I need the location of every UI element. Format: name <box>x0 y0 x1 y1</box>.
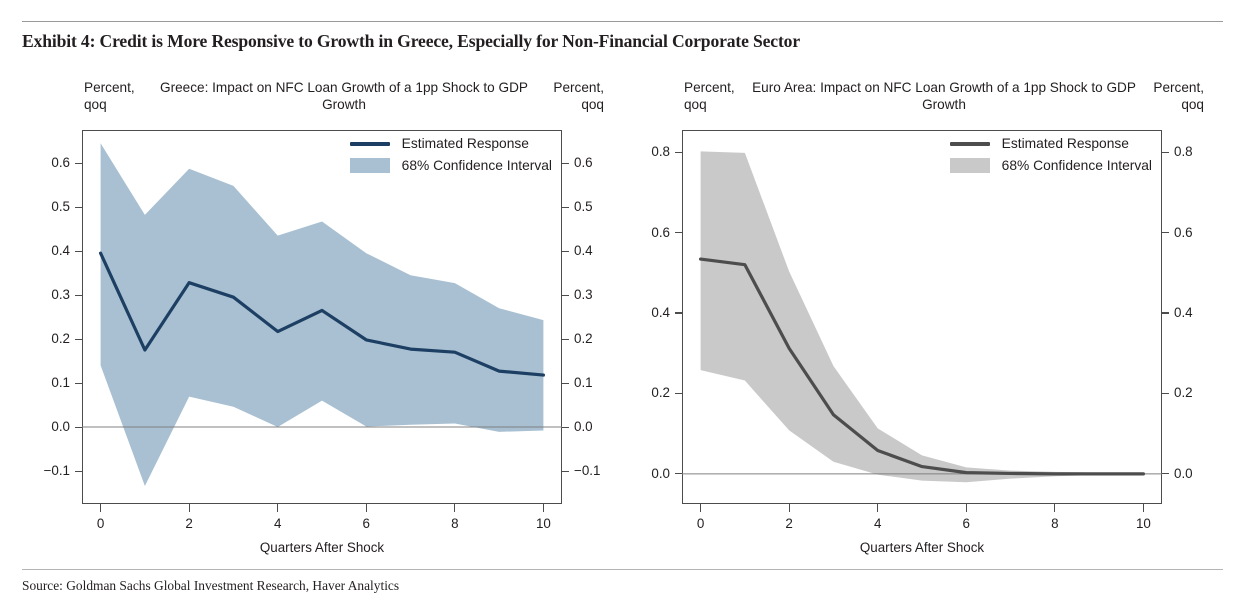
y-axis-label: 0.0 <box>1174 467 1193 480</box>
page-title: Exhibit 4: Credit is More Responsive to … <box>22 31 1202 52</box>
x-axis-label: 0 <box>97 517 104 530</box>
chart-title-euro-area: Euro Area: Impact on NFC Loan Growth of … <box>750 80 1138 113</box>
y-axis-tick <box>75 427 82 428</box>
x-axis-tick <box>100 504 101 512</box>
y-axis-tick <box>675 473 682 474</box>
y-axis-label: 0.4 <box>1174 306 1193 319</box>
unit-label-right: Percent, qoq <box>553 80 604 113</box>
x-axis-label: 4 <box>274 517 281 530</box>
x-axis-tick <box>1054 504 1055 512</box>
confidence-band <box>701 151 1144 482</box>
y-axis-label: 0.3 <box>574 288 593 301</box>
legend-label: 68% Confidence Interval <box>1002 158 1152 173</box>
x-axis-tick <box>700 504 701 512</box>
legend-label: 68% Confidence Interval <box>402 158 552 173</box>
y-axis-tick <box>1162 152 1169 153</box>
legend-greece: Estimated Response 68% Confidence Interv… <box>350 136 552 173</box>
chart-header-euro-area: Percent, qoq Euro Area: Impact on NFC Lo… <box>622 72 1222 118</box>
legend-label: Estimated Response <box>1002 136 1129 151</box>
y-axis-label: 0.6 <box>1174 226 1193 239</box>
y-axis-label: 0.2 <box>574 332 593 345</box>
x-axis-tick <box>789 504 790 512</box>
chart-panel-euro-area: Percent, qoq Euro Area: Impact on NFC Lo… <box>622 72 1222 562</box>
x-axis-tick <box>966 504 967 512</box>
y-axis-tick <box>75 163 82 164</box>
legend-item-estimated-response: Estimated Response <box>950 136 1152 151</box>
y-axis-label: 0.6 <box>574 156 593 169</box>
y-axis-label: 0.4 <box>51 244 70 257</box>
x-axis-label: 2 <box>185 517 192 530</box>
y-axis-tick <box>1162 393 1169 394</box>
legend-euro-area: Estimated Response 68% Confidence Interv… <box>950 136 1152 173</box>
y-axis-label: 0.3 <box>51 288 70 301</box>
legend-item-confidence-interval: 68% Confidence Interval <box>350 158 552 173</box>
x-axis-label: 8 <box>451 517 458 530</box>
y-axis-label: −0.1 <box>574 464 600 477</box>
x-axis-title-greece: Quarters After Shock <box>82 540 562 555</box>
y-axis-label: 0.8 <box>1174 145 1193 158</box>
y-axis-label: 0.5 <box>574 200 593 213</box>
unit-label-left: Percent, qoq <box>84 80 135 113</box>
y-axis-tick <box>562 207 569 208</box>
y-axis-label: 0.0 <box>574 420 593 433</box>
y-axis-tick <box>75 339 82 340</box>
source-note: Source: Goldman Sachs Global Investment … <box>22 578 399 594</box>
x-axis-tick <box>189 504 190 512</box>
y-axis-tick <box>562 295 569 296</box>
y-axis-label: 0.1 <box>574 376 593 389</box>
y-axis-tick <box>675 393 682 394</box>
y-axis-tick <box>75 295 82 296</box>
y-axis-label: 0.0 <box>651 467 670 480</box>
x-axis-label: 8 <box>1051 517 1058 530</box>
y-axis-label: 0.2 <box>51 332 70 345</box>
y-axis-tick <box>75 383 82 384</box>
y-axis-label: 0.4 <box>651 306 670 319</box>
y-axis-tick <box>1162 232 1169 233</box>
y-axis-label: 0.2 <box>1174 386 1193 399</box>
x-axis-tick <box>1143 504 1144 512</box>
y-axis-tick <box>675 232 682 233</box>
chart-title-greece: Greece: Impact on NFC Loan Growth of a 1… <box>150 80 538 113</box>
y-axis-label: 0.4 <box>574 244 593 257</box>
legend-item-estimated-response: Estimated Response <box>350 136 552 151</box>
y-axis-label: 0.0 <box>51 420 70 433</box>
x-axis-tick <box>454 504 455 512</box>
y-axis-label: −0.1 <box>44 464 70 477</box>
x-axis-title-euro-area: Quarters After Shock <box>682 540 1162 555</box>
y-axis-tick <box>1162 312 1169 313</box>
y-axis-tick <box>562 163 569 164</box>
y-axis-tick <box>75 471 82 472</box>
y-axis-label: 0.1 <box>51 376 70 389</box>
x-axis-label: 0 <box>697 517 704 530</box>
footer-divider <box>22 569 1223 570</box>
y-axis-tick <box>562 251 569 252</box>
y-axis-tick <box>675 152 682 153</box>
x-axis-tick <box>877 504 878 512</box>
x-axis-label: 4 <box>874 517 881 530</box>
x-axis-tick <box>366 504 367 512</box>
y-axis-label: 0.6 <box>651 226 670 239</box>
y-axis-label: 0.8 <box>651 145 670 158</box>
chart-header-greece: Percent, qoq Greece: Impact on NFC Loan … <box>22 72 622 118</box>
x-axis-tick <box>277 504 278 512</box>
series-greece <box>82 130 562 504</box>
legend-item-confidence-interval: 68% Confidence Interval <box>950 158 1152 173</box>
chart-panel-greece: Percent, qoq Greece: Impact on NFC Loan … <box>22 72 622 562</box>
y-axis-label: 0.5 <box>51 200 70 213</box>
x-axis-label: 6 <box>363 517 370 530</box>
x-axis-label: 6 <box>963 517 970 530</box>
legend-line-swatch <box>950 142 990 146</box>
y-axis-tick <box>75 207 82 208</box>
y-axis-tick <box>562 339 569 340</box>
series-euro-area <box>682 130 1162 504</box>
legend-band-swatch <box>350 158 390 173</box>
y-axis-tick <box>675 312 682 313</box>
x-axis-tick <box>543 504 544 512</box>
x-axis-label: 10 <box>1136 517 1151 530</box>
header-divider <box>22 21 1223 22</box>
y-axis-tick <box>562 427 569 428</box>
y-axis-tick <box>75 251 82 252</box>
legend-band-swatch <box>950 158 990 173</box>
x-axis-label: 10 <box>536 517 551 530</box>
plot-area-greece: Estimated Response 68% Confidence Interv… <box>82 130 562 504</box>
legend-line-swatch <box>350 142 390 146</box>
y-axis-tick <box>1162 473 1169 474</box>
x-axis-label: 2 <box>785 517 792 530</box>
plot-area-euro-area: Estimated Response 68% Confidence Interv… <box>682 130 1162 504</box>
y-axis-tick <box>562 383 569 384</box>
exhibit-page: Exhibit 4: Credit is More Responsive to … <box>0 0 1245 608</box>
unit-label-left: Percent, qoq <box>684 80 735 113</box>
y-axis-tick <box>562 471 569 472</box>
y-axis-label: 0.6 <box>51 156 70 169</box>
y-axis-label: 0.2 <box>651 386 670 399</box>
unit-label-right: Percent, qoq <box>1153 80 1204 113</box>
legend-label: Estimated Response <box>402 136 529 151</box>
